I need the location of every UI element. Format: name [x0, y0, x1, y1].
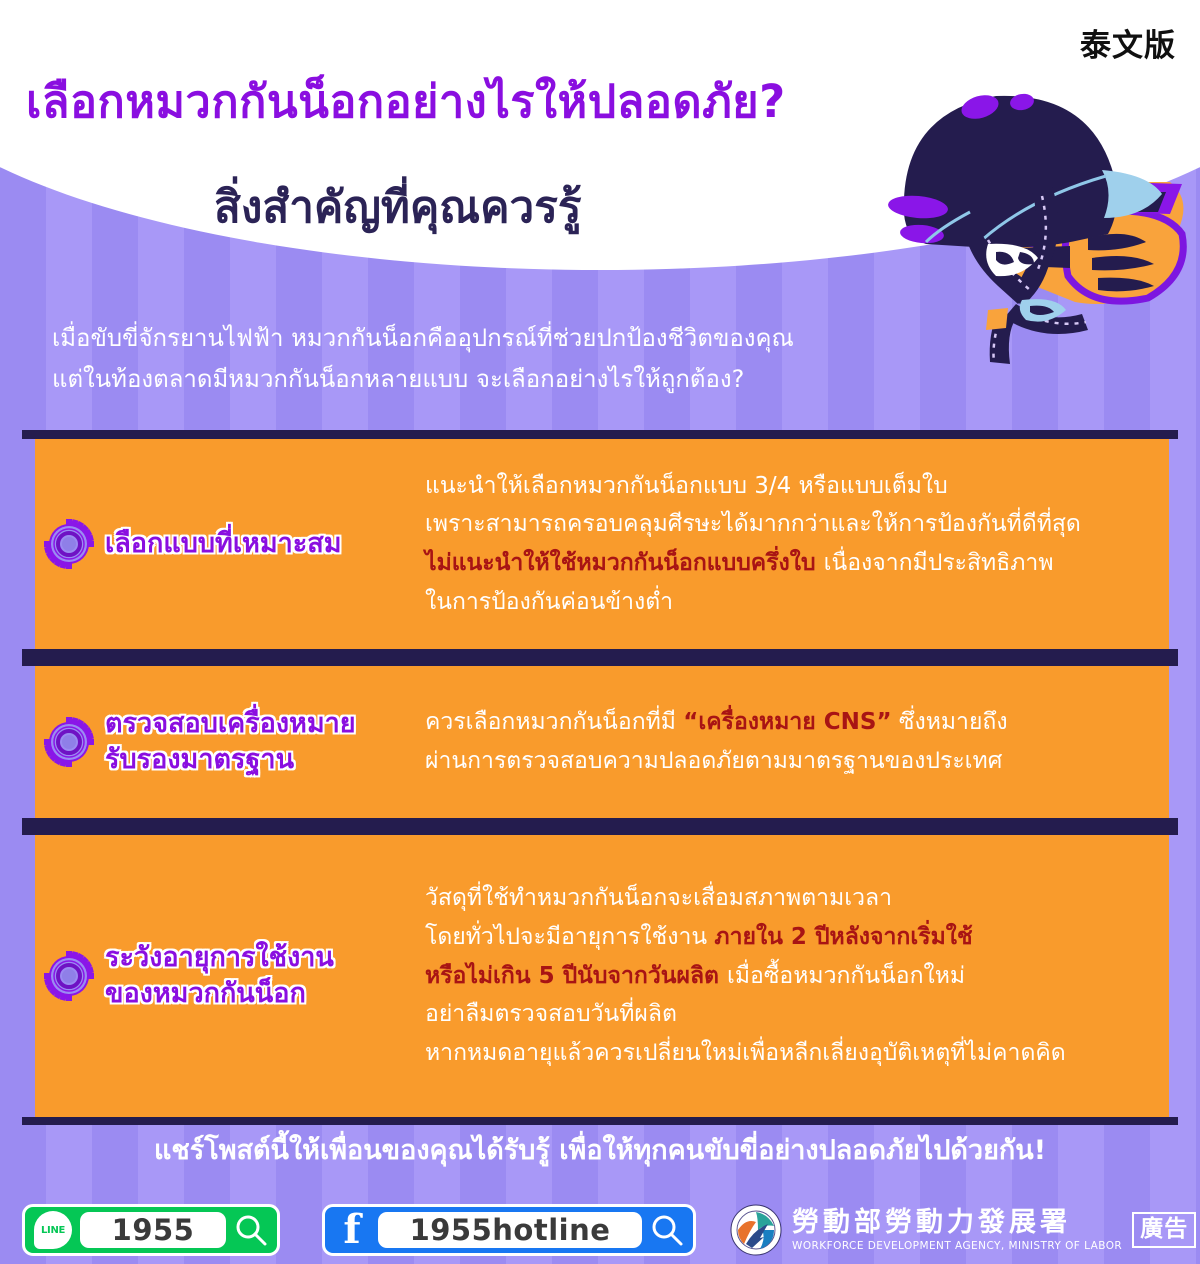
card-2-bottom-rule	[22, 818, 1178, 826]
text-run: ผ่านการตรวจสอบความปลอดภัยตามมาตรฐานของปร…	[425, 748, 1002, 774]
card-3-body-panel: ระวังอายุการใช้งาน ของหมวกกันน็อก วัสดุท…	[35, 835, 1169, 1117]
share-call-to-action: แชร์โพสต์นี้ให้เพื่อนของคุณได้รับรู้ เพื…	[0, 1128, 1200, 1171]
text-run: แนะนำให้เลือกหมวกกันน็อกแบบ 3/4 หรือแบบเ…	[425, 473, 948, 499]
card-3-text-line-3: หรือไม่เกิน 5 ปีนับจากวันผลิต เมื่อซื้อห…	[425, 957, 1159, 996]
card-2-body-panel: ตรวจสอบเครื่องหมาย รับรองมาตรฐาน ควรเลือ…	[35, 666, 1169, 818]
line-id-value: 1955	[80, 1212, 226, 1248]
facebook-icon: f	[334, 1210, 370, 1250]
card-2-title-line-2: รับรองมาตรฐาน	[105, 742, 356, 778]
agency-seal-icon	[730, 1204, 782, 1256]
agency-block: 勞動部勞動力發展署 WORKFORCE DEVELOPMENT AGENCY, …	[730, 1204, 1196, 1256]
text-run-highlight: ภายใน 2 ปีหลังจากเริ่มใช้	[714, 924, 972, 950]
gear-icon	[43, 716, 95, 768]
card-3-title: ระวังอายุการใช้งาน ของหมวกกันน็อก	[105, 940, 334, 1013]
page-title: เลือกหมวกกันน็อกอย่างไรให้ปลอดภัย?	[26, 78, 786, 125]
card-3-text: วัสดุที่ใช้ทำหมวกกันน็อกจะเสื่อมสภาพตามเ…	[425, 879, 1169, 1072]
bicycle-helmet-icon	[870, 62, 1200, 382]
card-2-text: ควรเลือกหมวกกันน็อกที่มี “เครื่องหมาย CN…	[425, 703, 1169, 780]
page-subtitle: สิ่งสำคัญที่คุณควรรู้	[214, 185, 582, 231]
card-3-text-line-1: วัสดุที่ใช้ทำหมวกกันน็อกจะเสื่อมสภาพตามเ…	[425, 879, 1159, 918]
text-run: เมื่อซื้อหมวกกันน็อกใหม่	[727, 963, 965, 989]
card-1-title-line-1: เลือกแบบที่เหมาะสม	[105, 526, 342, 562]
gear-icon	[43, 950, 95, 1002]
agency-name-cn: 勞動部勞動力發展署	[792, 1208, 1122, 1238]
line-icon: LINE	[34, 1211, 72, 1249]
facebook-contact-badge[interactable]: f 1955hotline	[322, 1204, 696, 1256]
facebook-page-value: 1955hotline	[378, 1212, 642, 1248]
card-1-title: เลือกแบบที่เหมาะสม	[105, 526, 342, 562]
infographic-page: 泰文版 เลือกหมวกกันน็อกอย่างไรให้ปลอดภัย? ส…	[0, 0, 1200, 1264]
card-1: เลือกแบบที่เหมาะสม แนะนำให้เลือกหมวกกันน…	[0, 430, 1200, 657]
card-1-text: แนะนำให้เลือกหมวกกันน็อกแบบ 3/4 หรือแบบเ…	[425, 467, 1169, 622]
card-2-heading-group: ตรวจสอบเครื่องหมาย รับรองมาตรฐาน	[35, 706, 425, 779]
text-run: เนื่องจากมีประสิทธิภาพ	[824, 550, 1054, 576]
card-2-title: ตรวจสอบเครื่องหมาย รับรองมาตรฐาน	[105, 706, 356, 779]
card-2-title-line-1: ตรวจสอบเครื่องหมาย	[105, 706, 356, 742]
text-run: โดยทั่วไปจะมีอายุการใช้งาน	[425, 924, 714, 950]
gear-icon	[43, 518, 95, 570]
text-run-highlight: หรือไม่เกิน 5 ปีนับจากวันผลิต	[425, 963, 727, 989]
card-1-body-panel: เลือกแบบที่เหมาะสม แนะนำให้เลือกหมวกกันน…	[35, 439, 1169, 649]
card-1-text-line-1: แนะนำให้เลือกหมวกกันน็อกแบบ 3/4 หรือแบบเ…	[425, 467, 1159, 506]
card-3-text-line-4: อย่าลืมตรวจสอบวันที่ผลิต	[425, 995, 1159, 1034]
line-contact-badge[interactable]: LINE 1955	[22, 1204, 280, 1256]
text-run: ซึ่งหมายถึง	[892, 709, 1008, 735]
text-run-highlight: ไม่แนะนำให้ใช้หมวกกันน็อกแบบครึ่งใบ	[425, 550, 824, 576]
text-run-highlight: “เครื่องหมาย CNS”	[683, 709, 891, 735]
card-1-top-rule	[22, 430, 1178, 439]
agency-text: 勞動部勞動力發展署 WORKFORCE DEVELOPMENT AGENCY, …	[792, 1208, 1122, 1252]
card-3-heading-group: ระวังอายุการใช้งาน ของหมวกกันน็อก	[35, 940, 425, 1013]
card-1-bottom-rule	[22, 649, 1178, 657]
card-3-text-line-5: หากหมดอายุแล้วควรเปลี่ยนใหม่เพื่อหลีกเลี…	[425, 1034, 1159, 1073]
text-run: อย่าลืมตรวจสอบวันที่ผลิต	[425, 1001, 677, 1027]
language-version-tag: 泰文版	[1080, 20, 1176, 65]
text-run: วัสดุที่ใช้ทำหมวกกันน็อกจะเสื่อมสภาพตามเ…	[425, 885, 892, 911]
ad-badge: 廣告	[1132, 1212, 1196, 1247]
agency-name-en: WORKFORCE DEVELOPMENT AGENCY, MINISTRY O…	[792, 1240, 1122, 1252]
card-2: ตรวจสอบเครื่องหมาย รับรองมาตรฐาน ควรเลือ…	[0, 657, 1200, 826]
card-2-top-rule	[22, 657, 1178, 666]
magnifier-icon	[650, 1213, 684, 1247]
card-3-bottom-rule	[22, 1117, 1178, 1125]
card-1-text-line-3: ไม่แนะนำให้ใช้หมวกกันน็อกแบบครึ่งใบ เนื่…	[425, 544, 1159, 583]
text-run: ควรเลือกหมวกกันน็อกที่มี	[425, 709, 683, 735]
text-run: ในการป้องกันค่อนข้างต่ำ	[425, 589, 673, 615]
magnifier-icon	[234, 1213, 268, 1247]
card-3-top-rule	[22, 826, 1178, 835]
card-1-heading-group: เลือกแบบที่เหมาะสม	[35, 518, 425, 570]
card-3: ระวังอายุการใช้งาน ของหมวกกันน็อก วัสดุท…	[0, 826, 1200, 1125]
card-1-text-line-2: เพราะสามารถครอบคลุมศีรษะได้มากกว่าและให้…	[425, 505, 1159, 544]
card-3-title-line-2: ของหมวกกันน็อก	[105, 976, 334, 1012]
footer-bar: LINE 1955 f 1955hotline	[0, 1196, 1200, 1264]
text-run: เพราะสามารถครอบคลุมศีรษะได้มากกว่าและให้…	[425, 511, 1081, 537]
card-3-title-line-1: ระวังอายุการใช้งาน	[105, 940, 334, 976]
card-2-text-line-1: ควรเลือกหมวกกันน็อกที่มี “เครื่องหมาย CN…	[425, 703, 1159, 742]
card-1-text-line-4: ในการป้องกันค่อนข้างต่ำ	[425, 583, 1159, 622]
text-run: หากหมดอายุแล้วควรเปลี่ยนใหม่เพื่อหลีกเลี…	[425, 1040, 1066, 1066]
card-2-text-line-2: ผ่านการตรวจสอบความปลอดภัยตามมาตรฐานของปร…	[425, 742, 1159, 781]
card-3-text-line-2: โดยทั่วไปจะมีอายุการใช้งาน ภายใน 2 ปีหลั…	[425, 918, 1159, 957]
